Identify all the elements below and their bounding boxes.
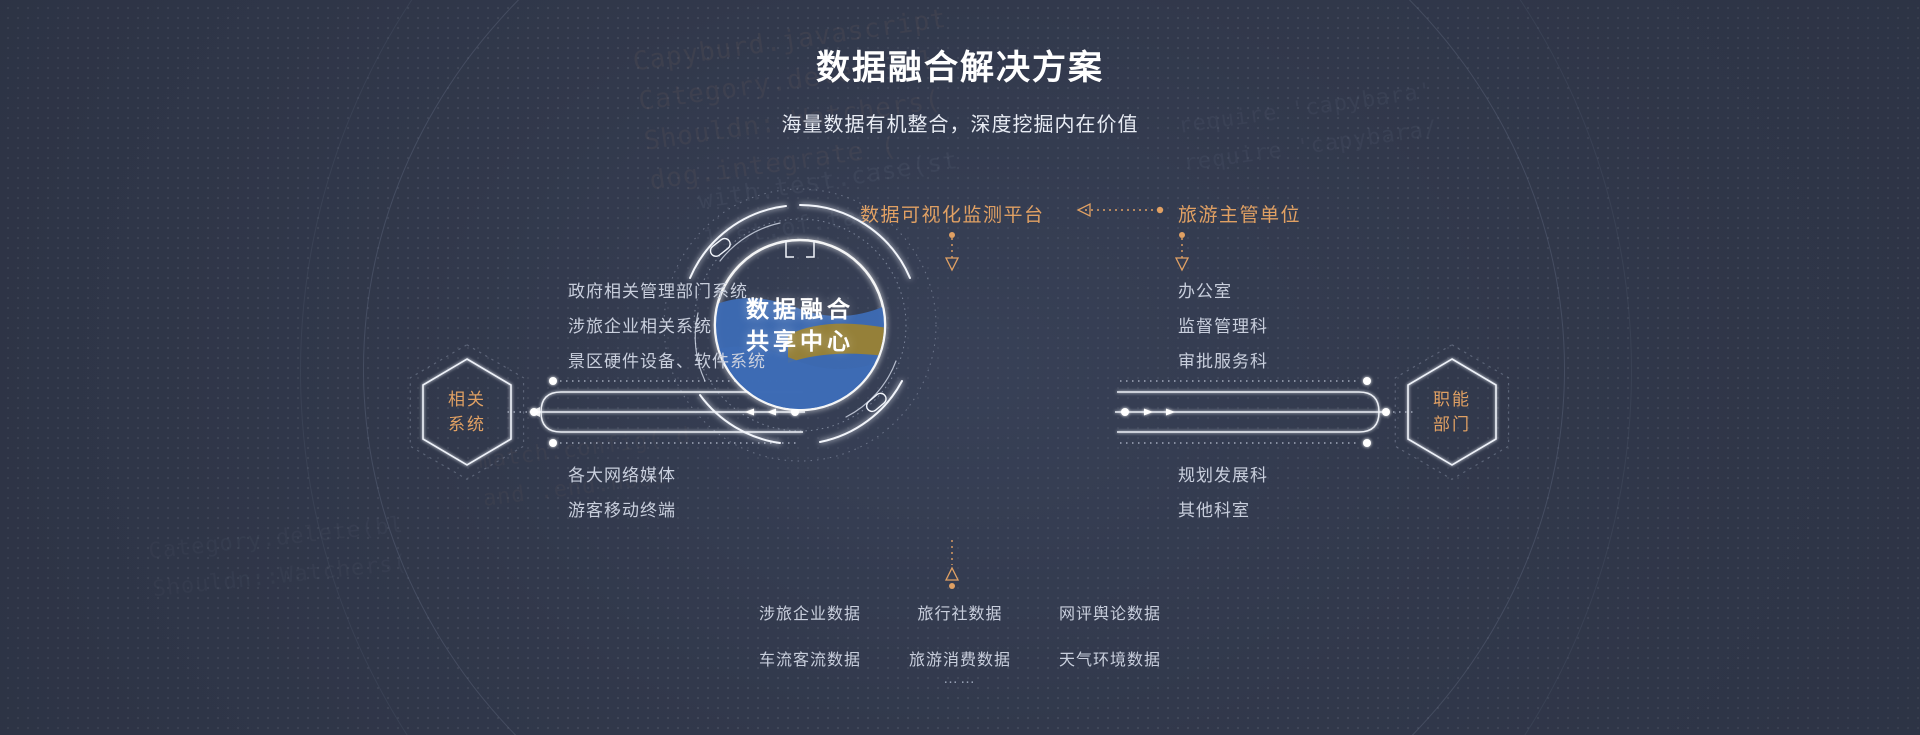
bottom-data-0-1: 旅行社数据 [895, 600, 1025, 624]
node-right-line2: 部门 [1433, 412, 1471, 437]
bottom-data-0-2: 网评舆论数据 [1045, 600, 1175, 624]
node-functional-departments-label: 职能 部门 [1400, 353, 1504, 471]
node-right-line1: 职能 [1433, 387, 1471, 412]
left-source-item-2: 景区硬件设备、软件系统 [568, 347, 766, 372]
hub-line1: 数据融合 [746, 293, 854, 325]
node-functional-departments[interactable]: 职能 部门 [1400, 353, 1504, 471]
left-source-item-0: 政府相关管理部门系统 [568, 277, 748, 302]
page-title: 数据融合解决方案 [0, 40, 1920, 89]
node-related-systems[interactable]: 相关 系统 [415, 353, 519, 471]
background-code-text-1: Capyburd.javascript Category.delete(bl S… [630, 0, 966, 201]
bottom-data-row-2: 车流客流数据 旅游消费数据 天气环境数据 [745, 646, 1175, 670]
right-dept-item-1: 监督管理科 [1178, 312, 1268, 337]
left-source-item-4: 游客移动终端 [568, 496, 676, 521]
node-left-line1: 相关 [448, 387, 486, 412]
bottom-data-ellipsis: …… [0, 670, 1920, 687]
left-source-item-3: 各大网络媒体 [568, 461, 676, 486]
background-code-text-5: Category.delete(bl Shouldn::Watchers( [147, 507, 410, 609]
right-dept-item-3: 规划发展科 [1178, 461, 1268, 486]
left-source-item-1: 涉旅企业相关系统 [568, 312, 712, 337]
page-subtitle: 海量数据有机整合，深度挖掘内在价值 [0, 108, 1920, 137]
bottom-data-1-1: 旅游消费数据 [895, 646, 1025, 670]
node-left-line2: 系统 [448, 412, 486, 437]
right-dept-item-2: 审批服务科 [1178, 347, 1268, 372]
infographic-canvas: Capyburd.javascript Category.delete(bl S… [0, 0, 1920, 735]
label-tourism-authority: 旅游主管单位 [1178, 200, 1301, 227]
bottom-data-0-0: 涉旅企业数据 [745, 600, 875, 624]
node-related-systems-label: 相关 系统 [415, 353, 519, 471]
bottom-data-row-1: 涉旅企业数据 旅行社数据 网评舆论数据 [745, 600, 1175, 624]
right-dept-item-4: 其他科室 [1178, 496, 1250, 521]
right-dept-item-0: 办公室 [1178, 277, 1232, 302]
bottom-data-1-2: 天气环境数据 [1045, 646, 1175, 670]
bottom-data-1-0: 车流客流数据 [745, 646, 875, 670]
